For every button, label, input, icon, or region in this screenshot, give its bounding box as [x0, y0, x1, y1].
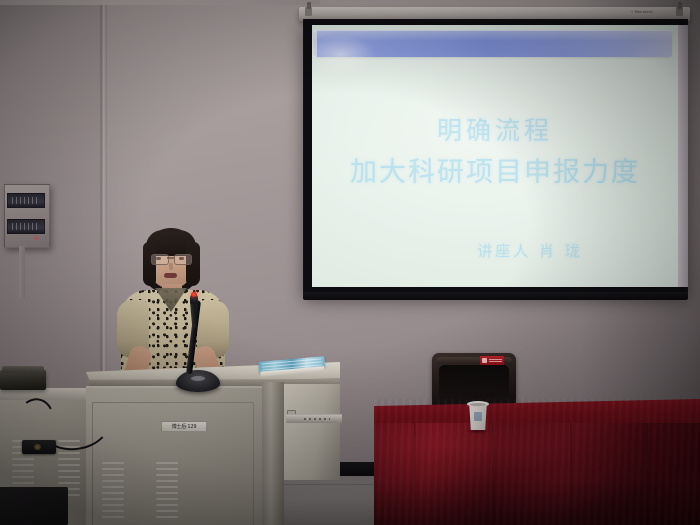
red-draped-table	[374, 399, 700, 525]
mouth	[164, 273, 177, 278]
screen-bottom-bar	[303, 292, 688, 300]
podium-body: 博士后·129	[86, 386, 262, 525]
podium-vent-left	[102, 462, 126, 524]
panel-support-post	[19, 246, 25, 298]
gooseneck-microphone	[176, 296, 220, 392]
sticker-logo-mark	[482, 358, 487, 363]
microphone-base-highlight	[191, 376, 205, 381]
keyboard-drawer-rail	[286, 414, 342, 423]
equipment-box-top	[2, 366, 44, 373]
ceiling-edge	[0, 0, 320, 5]
drawer-rail-perforations	[304, 418, 330, 420]
podium-side-shelf	[284, 384, 340, 480]
electrical-panel-box	[4, 184, 50, 248]
nose	[169, 263, 173, 270]
connection-socket-plate	[22, 440, 56, 454]
slide-header-banner	[314, 30, 672, 57]
cup-logo-icon	[474, 412, 482, 421]
socket-connector	[34, 444, 41, 450]
paper-cup	[467, 401, 489, 431]
table-cloth-skirt	[374, 423, 700, 525]
cup-rim-inner	[470, 403, 486, 407]
glasses-bridge	[167, 257, 174, 259]
glasses-lens-left	[151, 254, 169, 265]
banner-gloss	[314, 30, 672, 41]
chair-asset-sticker	[480, 356, 504, 365]
slide-title-line-1: 明确流程	[312, 111, 678, 147]
projection-screen: 明确流程 加大科研项目申报力度 讲座人 肖 珑	[303, 19, 688, 295]
podium-vent-right	[156, 462, 180, 524]
audio-equipment-box	[0, 370, 46, 390]
sticker-text-lines	[489, 359, 502, 363]
microphone-base	[176, 370, 220, 392]
panel-indicator-light	[34, 236, 39, 240]
glasses-icon	[150, 254, 192, 263]
banner-highlight	[314, 30, 317, 57]
wall-seam-shadow	[100, 0, 102, 420]
screen-surface: 明确流程 加大科研项目申报力度 讲座人 肖 珑	[312, 25, 678, 287]
cloth-shadow	[374, 479, 700, 525]
screen-hook-left	[307, 2, 311, 9]
screen-hook-right	[678, 2, 682, 9]
lecture-hall-photo: • Menatent 明确流程 加大科研项目申报力度 讲座人 肖 珑	[0, 0, 700, 525]
podium-side-panel	[262, 382, 284, 525]
slide-title-line-2: 加大科研项目申报力度	[312, 150, 678, 189]
screen-right-edge	[678, 25, 688, 287]
glasses-lens-right	[174, 254, 192, 265]
panel-breaker-row-bottom	[7, 219, 45, 234]
panel-breaker-row-top	[7, 193, 45, 208]
floor-equipment-box	[0, 487, 68, 525]
slide-presenter-line: 讲座人 肖 珑	[312, 240, 678, 261]
housing-brand-label: • Menatent	[631, 10, 653, 14]
presentation-slide: 明确流程 加大科研项目申报力度 讲座人 肖 珑	[312, 25, 678, 287]
podium-room-label: 博士后·129	[161, 421, 207, 432]
microphone-led-icon	[191, 292, 197, 297]
